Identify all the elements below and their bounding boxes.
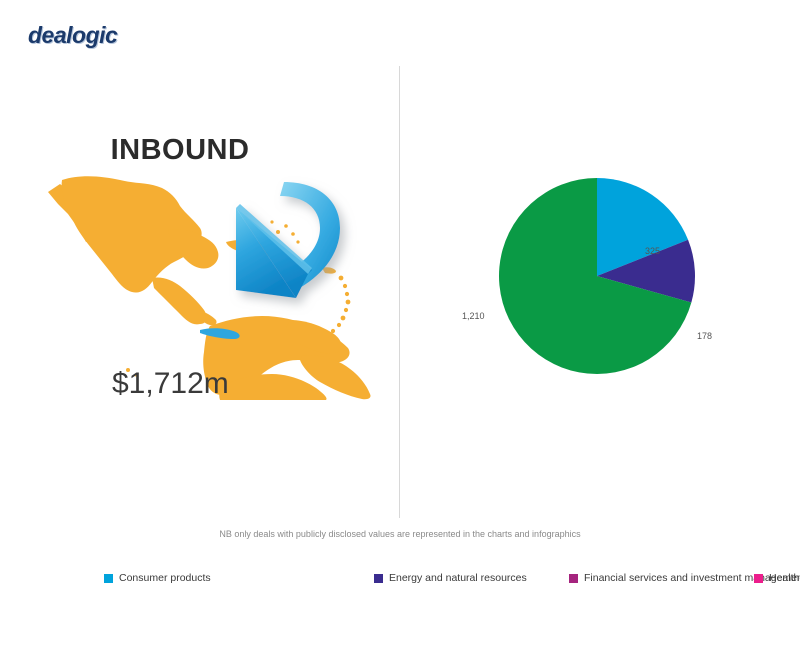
- chart-legend: Consumer productsEnergy and natural reso…: [104, 571, 754, 586]
- legend-label: Energy and natural resources: [389, 573, 527, 584]
- inbound-value: $1,712m: [112, 367, 229, 401]
- legend-item[interactable]: Consumer products: [104, 571, 374, 586]
- pie-slices: [499, 178, 695, 374]
- page-title: INBOUND: [0, 134, 360, 167]
- latin-america-caribbean-map: [40, 170, 400, 400]
- legend-swatch: [104, 574, 113, 583]
- inbound-panel: INBOUND: [0, 66, 399, 518]
- dealogic-logo: dealogic: [28, 22, 117, 49]
- legend-swatch: [374, 574, 383, 583]
- legend-label: Healthcare: [769, 573, 800, 584]
- pie-slice-label-telecoms-media-technology: 1,210: [462, 311, 485, 321]
- legend-label: Consumer products: [119, 573, 211, 584]
- legend-swatch: [569, 574, 578, 583]
- legend-item[interactable]: Financial services and investment manage…: [569, 571, 754, 586]
- pie-slice-label-energy-natural-resources: 178: [697, 331, 712, 341]
- pie-slice-label-consumer-products: 325: [645, 246, 660, 256]
- pie-chart: [497, 176, 697, 376]
- legend-swatch: [754, 574, 763, 583]
- pie-chart-panel: 325 178 1,210: [400, 66, 800, 518]
- legend-item[interactable]: Energy and natural resources: [374, 571, 569, 586]
- footnote-text: NB only deals with publicly disclosed va…: [0, 529, 800, 539]
- inbound-arrow-icon: [236, 182, 340, 298]
- legend-item[interactable]: Healthcare: [754, 571, 800, 586]
